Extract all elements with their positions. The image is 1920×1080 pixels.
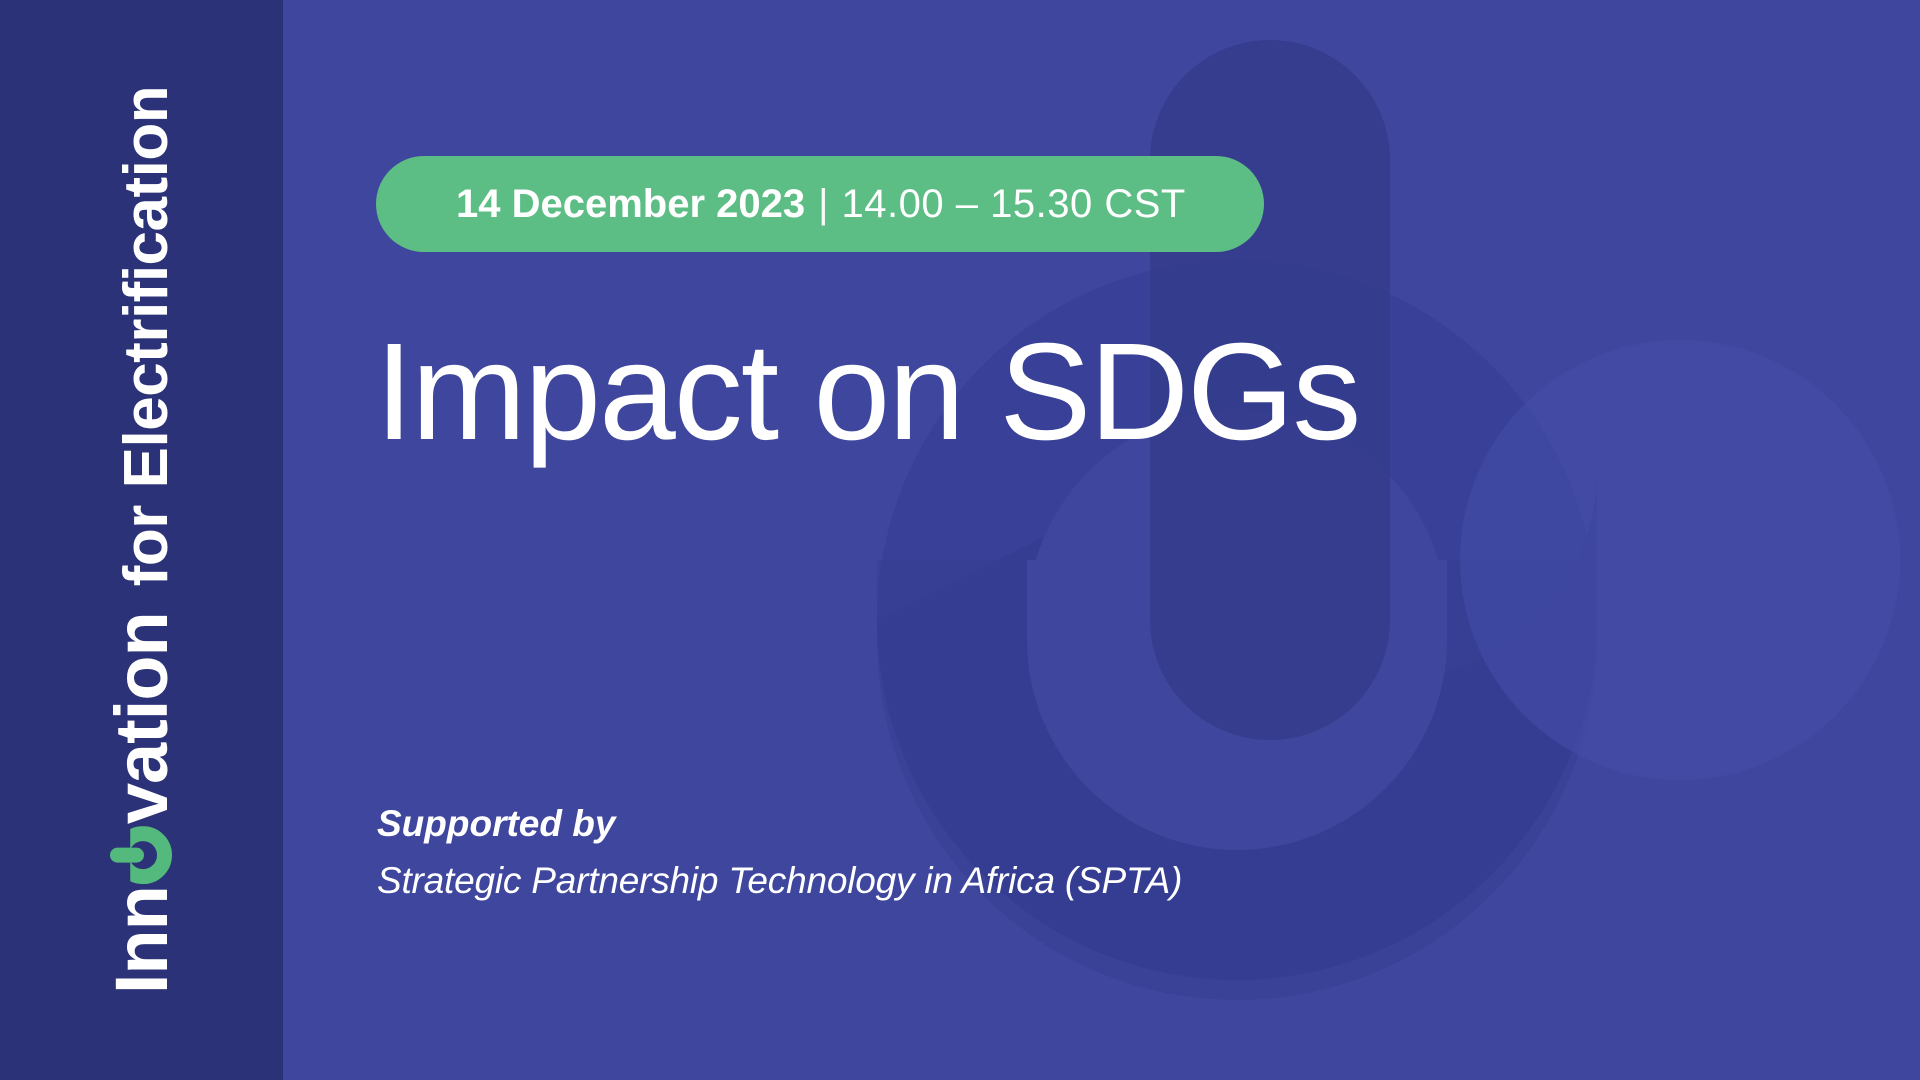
sidebar-logo-panel: Inn vation for Electrification (0, 0, 283, 1080)
supported-by-organization: Strategic Partnership Technology in Afri… (377, 852, 1182, 909)
event-banner: Inn vation for Electrification 14 Decemb… (0, 0, 1920, 1080)
power-o-icon (114, 826, 172, 884)
brand-logo-prefix: Inn (105, 886, 179, 994)
power-o-icon-stem (110, 848, 144, 863)
badge-time: 14.00 – 15.30 CST (842, 182, 1186, 227)
badge-date: 14 December 2023 (456, 182, 805, 227)
brand-logo-wordmark: Inn vation (105, 612, 179, 994)
datetime-badge: 14 December 2023 | 14.00 – 15.30 CST (376, 156, 1264, 252)
brand-logo: Inn vation for Electrification (105, 86, 179, 994)
page-title: Impact on SDGs (375, 320, 1359, 465)
brand-logo-tagline: for Electrification (116, 86, 178, 586)
banner-content: 14 December 2023 | 14.00 – 15.30 CST Imp… (283, 0, 1920, 1080)
brand-logo-suffix: vation (105, 612, 179, 824)
supported-by-block: Supported by Strategic Partnership Techn… (377, 795, 1182, 910)
supported-by-label: Supported by (377, 795, 1182, 852)
badge-separator: | (818, 182, 828, 227)
